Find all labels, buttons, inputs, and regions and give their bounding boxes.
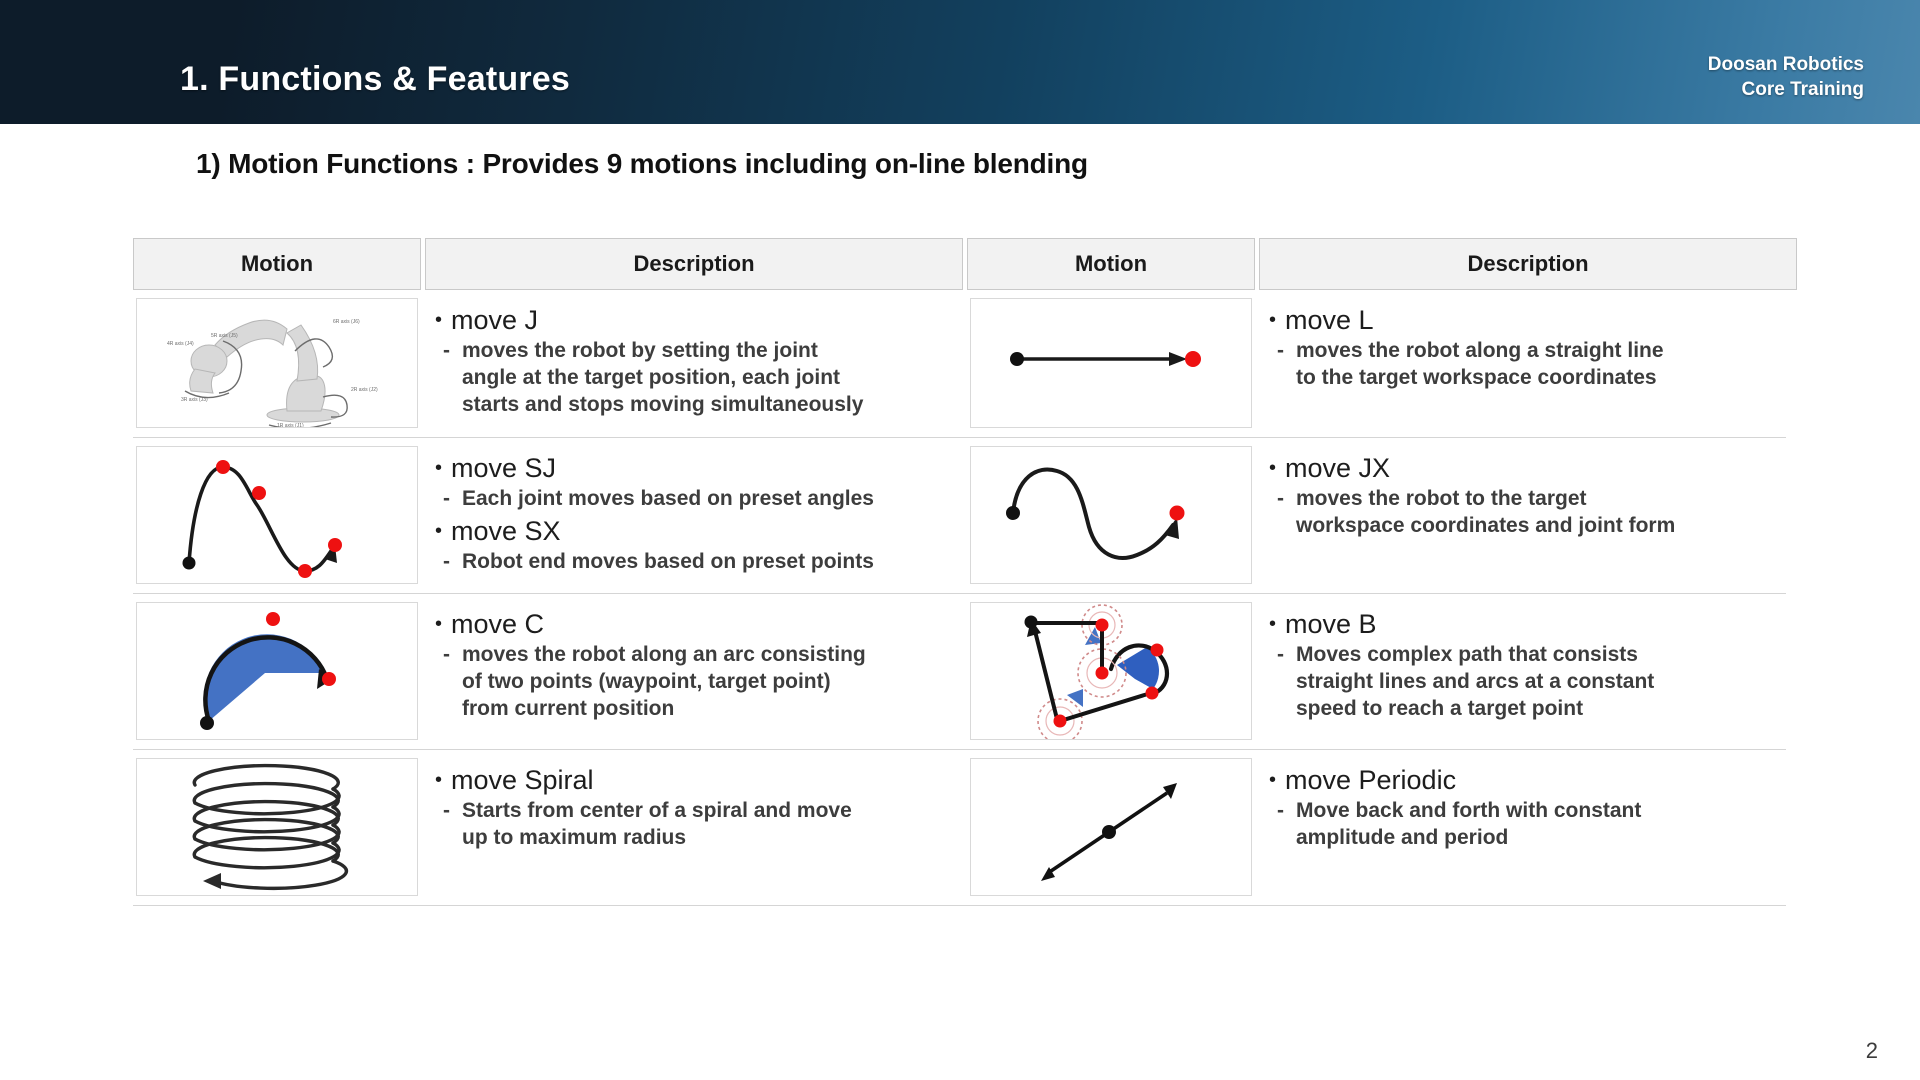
motion-name: •move JX xyxy=(1269,452,1785,485)
table-row: •move C - moves the robot along an arc c… xyxy=(133,594,1786,750)
description-cell: •move B - Moves complex path that consis… xyxy=(1259,594,1797,750)
bullet-icon: • xyxy=(435,768,451,792)
motion-detail: - Robot end moves based on preset points xyxy=(435,549,951,576)
dash-icon: - xyxy=(443,798,450,825)
diagram-move-b xyxy=(970,602,1252,740)
motion-entry: •move JX - moves the robot to the target… xyxy=(1269,452,1785,540)
motion-cell xyxy=(967,594,1255,750)
table-row: •move SJ - Each joint moves based on pre… xyxy=(133,438,1786,594)
motion-detail: - moves the robot to the target workspac… xyxy=(1269,486,1785,540)
motion-entry: •move J - moves the robot by setting the… xyxy=(435,304,951,419)
bullet-icon: • xyxy=(1269,308,1285,332)
diagram-move-sj-sx xyxy=(136,446,418,584)
bullet-icon: • xyxy=(435,519,451,543)
motion-cell xyxy=(967,750,1255,906)
diagram-move-c xyxy=(136,602,418,740)
section-subtitle: 1) Motion Functions : Provides 9 motions… xyxy=(196,148,1088,180)
motion-cell xyxy=(133,750,421,906)
motion-name: •move C xyxy=(435,608,951,641)
dash-icon: - xyxy=(443,642,450,669)
motion-cell xyxy=(967,290,1255,438)
table-row: 6R axis (J6) 2R axis (J2) 5R axis (J5) 4… xyxy=(133,290,1786,438)
page-number: 2 xyxy=(1866,1038,1878,1064)
circular-arc-sector-icon xyxy=(137,603,418,740)
motion-name: •move SJ xyxy=(435,452,951,485)
diagram-move-j: 6R axis (J6) 2R axis (J2) 5R axis (J5) 4… xyxy=(136,298,418,428)
column-header-description-1: Description xyxy=(425,238,963,290)
description-cell: •move Periodic - Move back and forth wit… xyxy=(1259,750,1797,906)
svg-text:2R axis (J2): 2R axis (J2) xyxy=(351,387,378,393)
motion-entry: •move C - moves the robot along an arc c… xyxy=(435,608,951,723)
svg-text:5R axis (J5): 5R axis (J5) xyxy=(211,333,238,339)
bullet-icon: • xyxy=(1269,456,1285,480)
brand-name: Doosan Robotics xyxy=(1708,52,1864,77)
bullet-icon: • xyxy=(435,456,451,480)
motion-name: •move B xyxy=(1269,608,1785,641)
motion-detail: - moves the robot along a straight line … xyxy=(1269,338,1785,392)
motion-entry: •move SJ - Each joint moves based on pre… xyxy=(435,452,951,513)
dash-icon: - xyxy=(1277,486,1284,513)
diagram-move-l xyxy=(970,298,1252,428)
motion-detail: - Move back and forth with constant ampl… xyxy=(1269,798,1785,852)
table-row: •move Spiral - Starts from center of a s… xyxy=(133,750,1786,906)
dash-icon: - xyxy=(443,549,450,576)
svg-text:6R axis (J6): 6R axis (J6) xyxy=(333,319,360,325)
motion-cell xyxy=(133,594,421,750)
dash-icon: - xyxy=(1277,338,1284,365)
motion-entry: •move B - Moves complex path that consis… xyxy=(1269,608,1785,723)
bullet-icon: • xyxy=(435,612,451,636)
blended-path-icon xyxy=(971,603,1252,740)
column-header-motion-1: Motion xyxy=(133,238,421,290)
spiral-helix-icon xyxy=(137,759,418,896)
motion-name: •move Periodic xyxy=(1269,764,1785,797)
brand-subtitle: Core Training xyxy=(1708,77,1864,102)
motion-cell xyxy=(133,438,421,594)
diagram-move-periodic xyxy=(970,758,1252,896)
bullet-icon: • xyxy=(1269,768,1285,792)
motion-name: •move J xyxy=(435,304,951,337)
description-cell: •move JX - moves the robot to the target… xyxy=(1259,438,1797,594)
motion-entry: •move L - moves the robot along a straig… xyxy=(1269,304,1785,392)
motion-cell: 6R axis (J6) 2R axis (J2) 5R axis (J5) 4… xyxy=(133,290,421,438)
bullet-icon: • xyxy=(435,308,451,332)
dash-icon: - xyxy=(443,338,450,365)
bullet-icon: • xyxy=(1269,612,1285,636)
page-title: 1. Functions & Features xyxy=(180,60,570,99)
spline-waypoints-icon xyxy=(137,447,418,584)
description-cell: •move Spiral - Starts from center of a s… xyxy=(425,750,963,906)
svg-text:4R axis (J4): 4R axis (J4) xyxy=(167,341,194,347)
motion-entry: •move Periodic - Move back and forth wit… xyxy=(1269,764,1785,852)
motion-table: Motion Description Motion Description xyxy=(133,238,1786,906)
dash-icon: - xyxy=(1277,798,1284,825)
brand-block: Doosan Robotics Core Training xyxy=(1708,52,1864,102)
dash-icon: - xyxy=(443,486,450,513)
double-arrow-periodic-icon xyxy=(971,759,1252,896)
motion-name: •move L xyxy=(1269,304,1785,337)
motion-detail: - Starts from center of a spiral and mov… xyxy=(435,798,951,852)
motion-name: •move Spiral xyxy=(435,764,951,797)
diagram-move-jx xyxy=(970,446,1252,584)
motion-detail: - moves the robot by setting the joint a… xyxy=(435,338,951,419)
description-cell: •move SJ - Each joint moves based on pre… xyxy=(425,438,963,594)
slide-header: 1. Functions & Features Doosan Robotics … xyxy=(0,0,1920,124)
table-header-row: Motion Description Motion Description xyxy=(133,238,1786,290)
motion-cell xyxy=(967,438,1255,594)
motion-entry: •move SX - Robot end moves based on pres… xyxy=(435,515,951,576)
robot-arm-joint-axes-icon: 6R axis (J6) 2R axis (J2) 5R axis (J5) 4… xyxy=(137,299,418,428)
motion-entry: •move Spiral - Starts from center of a s… xyxy=(435,764,951,852)
svg-text:3R axis (J3): 3R axis (J3) xyxy=(181,397,208,403)
column-header-description-2: Description xyxy=(1259,238,1797,290)
diagram-move-spiral xyxy=(136,758,418,896)
s-curve-arrow-icon xyxy=(971,447,1252,584)
straight-line-arrow-icon xyxy=(971,299,1252,428)
description-cell: •move C - moves the robot along an arc c… xyxy=(425,594,963,750)
motion-detail: - Moves complex path that consists strai… xyxy=(1269,642,1785,723)
motion-detail: - moves the robot along an arc consistin… xyxy=(435,642,951,723)
motion-name: •move SX xyxy=(435,515,951,548)
description-cell: •move L - moves the robot along a straig… xyxy=(1259,290,1797,438)
motion-detail: - Each joint moves based on preset angle… xyxy=(435,486,951,513)
description-cell: •move J - moves the robot by setting the… xyxy=(425,290,963,438)
column-header-motion-2: Motion xyxy=(967,238,1255,290)
dash-icon: - xyxy=(1277,642,1284,669)
slide: 1. Functions & Features Doosan Robotics … xyxy=(0,0,1920,1080)
svg-text:1R axis (J1): 1R axis (J1) xyxy=(277,423,304,428)
